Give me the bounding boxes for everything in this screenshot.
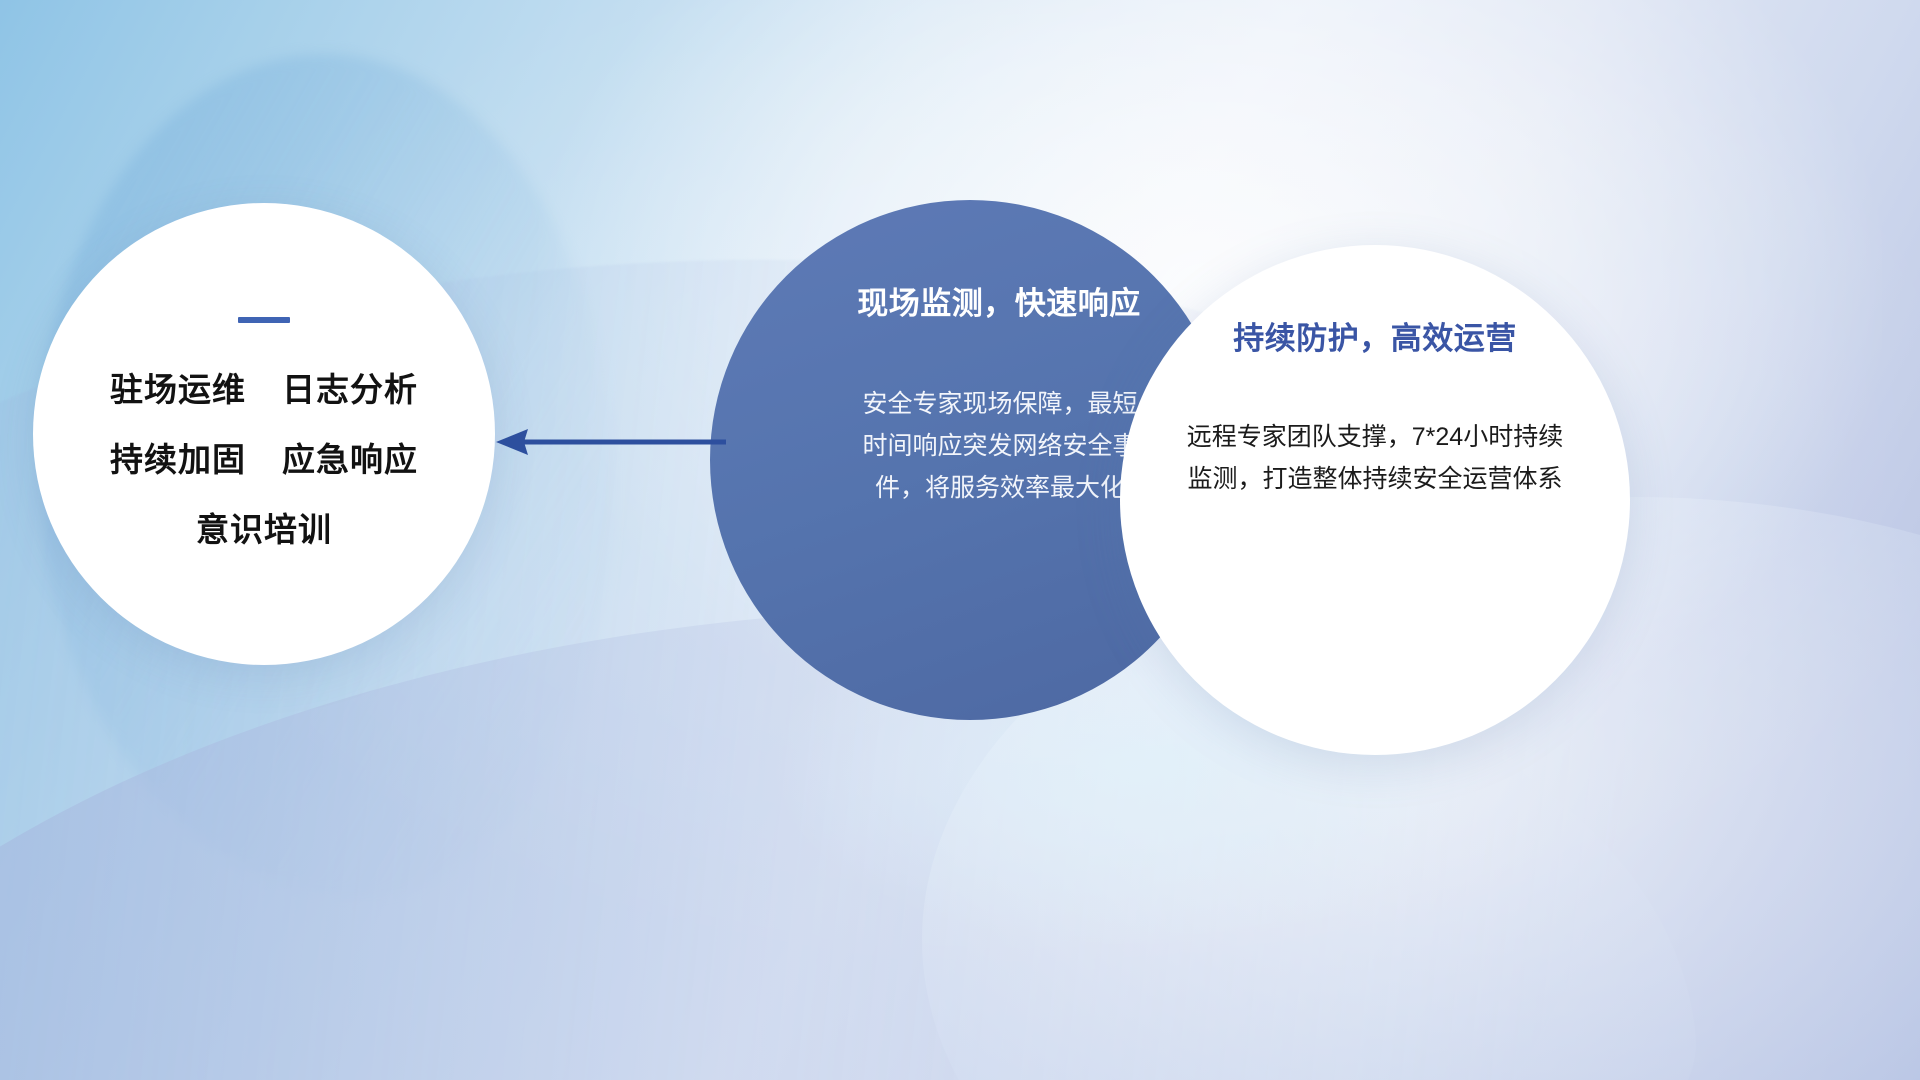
arrow-left-icon — [488, 418, 728, 466]
capability-tag: 应急响应 — [282, 433, 418, 481]
capability-tag: 驻场运维 — [110, 363, 246, 411]
left-capability-list: 驻场运维 日志分析 持续加固 应急响应 意识培训 — [110, 363, 418, 551]
capability-tag: 持续加固 — [110, 433, 246, 481]
capability-tag: 意识培训 — [196, 503, 332, 551]
right-operations-circle[interactable]: 持续防护，高效运营 远程专家团队支撑，7*24小时持续监测，打造整体持续安全运营… — [1120, 245, 1630, 755]
right-circle-body: 远程专家团队支撑，7*24小时持续监测，打造整体持续安全运营体系 — [1175, 416, 1575, 500]
middle-circle-title: 现场监测，快速响应 — [857, 278, 1141, 323]
capability-row: 驻场运维 日志分析 — [110, 363, 418, 411]
middle-circle-body: 安全专家现场保障，最短时间响应突发网络安全事件，将服务效率最大化 — [855, 383, 1145, 509]
capability-row: 持续加固 应急响应 — [110, 433, 418, 481]
capability-row: 意识培训 — [196, 503, 332, 551]
diagram-root: 驻场运维 日志分析 持续加固 应急响应 意识培训 现场监测，快速响应 安全专家现… — [0, 0, 1920, 1080]
divider-dash-icon — [238, 317, 290, 323]
capability-tag: 日志分析 — [282, 363, 418, 411]
right-circle-title: 持续防护，高效运营 — [1233, 313, 1517, 358]
left-capability-circle[interactable]: 驻场运维 日志分析 持续加固 应急响应 意识培训 — [33, 203, 495, 665]
